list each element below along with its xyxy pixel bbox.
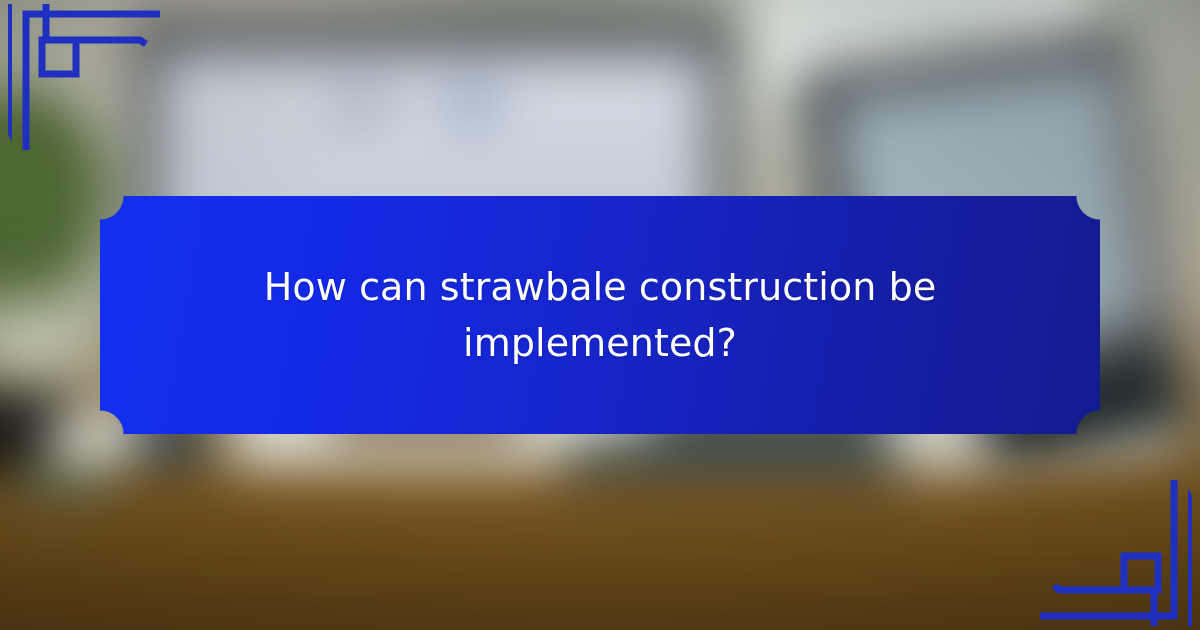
question-banner: How can strawbale construction be implem… bbox=[100, 196, 1100, 434]
screenshot-canvas: How can strawbale construction be implem… bbox=[0, 0, 1200, 630]
question-heading: How can strawbale construction be implem… bbox=[100, 196, 1100, 434]
